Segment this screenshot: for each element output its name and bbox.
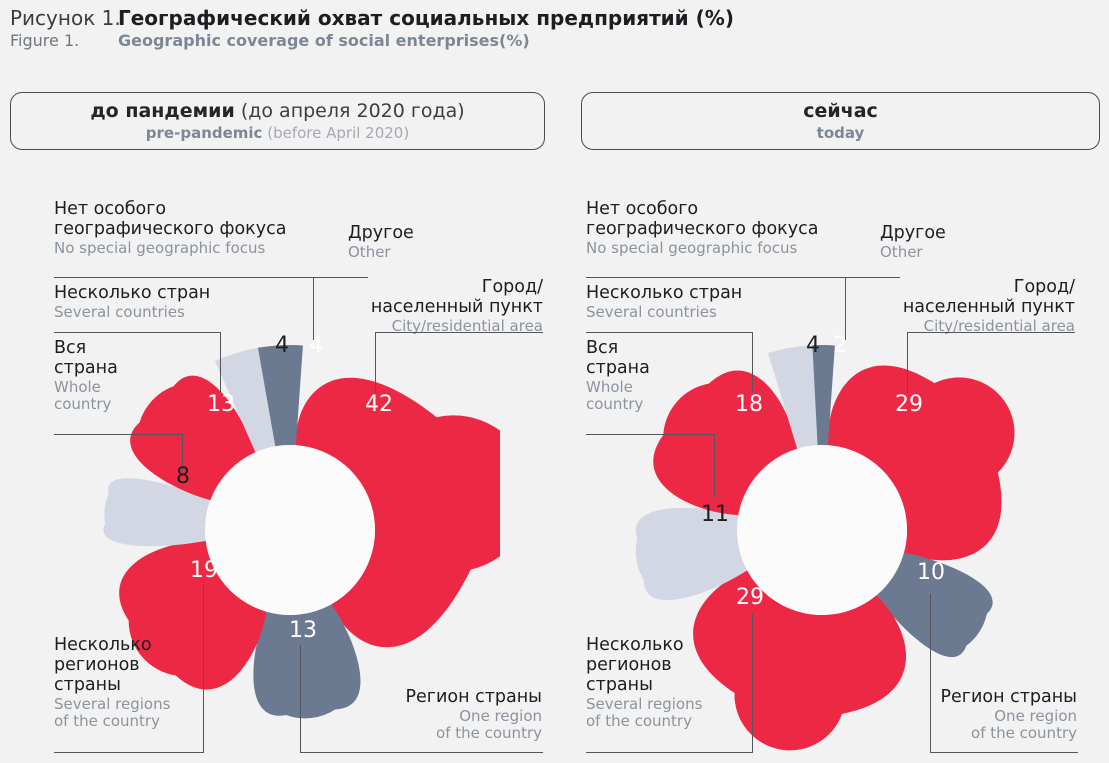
label-no-special-focus-right: Нет особого географического фокуса No sp… [586,200,856,257]
label-whole-country-left: Вся страна Whole country [54,339,174,414]
value-several-countries-right: 18 [735,394,763,416]
value-city-right: 29 [895,394,923,416]
label-en: No special geographic focus [586,240,856,257]
leader-line-no-focus-right-v [845,277,846,340]
label-ru: Несколько регионов страны [586,636,736,696]
label-several-regions-right: Несколько регионов страны Several region… [586,636,736,731]
figure-header: Рисунок 1. Географический охват социальн… [10,6,1100,50]
leader-line-one-region-left-v [300,645,301,753]
label-en: Other [880,244,1000,261]
label-ru: Регион страны [350,688,542,708]
label-one-region-left: Регион страны One region of the country [350,688,542,743]
leader-line-several-countries-right-h [586,332,753,333]
figure-title-ru: Географический охват социальных предприя… [118,6,734,30]
leader-line-no-focus-right-h [586,277,846,278]
value-several-regions-left: 19 [190,560,218,582]
panel-title-ru-right: сейчас [803,100,878,123]
panel-title-ru-rest-left: (до апреля 2020 года) [235,100,465,122]
value-no-focus-right: 4 [806,335,820,357]
leader-line-city-left-v [375,332,376,393]
label-city-right: Город/ населенный пункт City/residential… [885,278,1075,335]
leader-line-several-countries-left-v [220,332,221,392]
leader-line-one-region-right-h [930,752,1078,753]
figure-number-ru: Рисунок 1. [10,6,118,30]
label-several-countries-right: Несколько стран Several countries [586,284,836,321]
label-ru: Вся страна [54,339,174,379]
label-en: Several countries [586,304,836,321]
leader-line-several-regions-right-v [752,614,753,753]
panel-title-en-bold-left: pre-pandemic [146,124,263,142]
label-other-right: Другое Other [880,224,1000,261]
panel-title-box-pre-pandemic: до пандемии (до апреля 2020 года) pre-pa… [10,92,545,150]
label-ru: Несколько регионов страны [54,636,204,696]
label-ru: Несколько стран [586,284,836,304]
leader-line-several-countries-right-v [752,332,753,392]
leader-line-other-left-v2 [313,277,314,340]
leader-line-city-right-h [907,332,1075,333]
value-other-left: 4 [309,335,323,357]
leader-line-several-regions-left-v [203,584,204,753]
leader-line-whole-country-left-h [54,434,183,435]
panel-title-ru-bold-right: сейчас [803,100,878,122]
leader-line-several-countries-left-h [54,332,221,333]
leader-line-whole-country-right-v [714,434,715,498]
label-en: No special geographic focus [54,240,324,257]
label-ru: Несколько стран [54,284,304,304]
value-one-region-left: 13 [289,620,317,642]
leader-line-city-right-v [907,332,908,393]
label-ru: Другое [880,224,1000,244]
label-en: One region of the country [885,708,1077,743]
label-whole-country-right: Вся страна Whole country [586,339,706,414]
label-en: Several regions of the country [586,696,736,731]
value-several-regions-right: 29 [736,587,764,609]
leader-line-one-region-right-v [930,594,931,753]
label-one-region-right: Регион страны One region of the country [885,688,1077,743]
value-one-region-right: 10 [917,562,945,584]
leader-line-city-left-h [375,332,543,333]
value-whole-country-right: 11 [701,504,729,526]
label-en: Several countries [54,304,304,321]
label-several-regions-left: Несколько регионов страны Several region… [54,636,204,731]
leader-line-one-region-left-h [300,752,543,753]
figure-title-en: Geographic coverage of social enterprise… [118,31,530,50]
panel-title-ru-left: до пандемии (до апреля 2020 года) [90,100,464,123]
label-ru: Нет особого географического фокуса [54,200,324,240]
label-ru: Город/ населенный пункт [885,278,1075,318]
value-no-focus-left: 4 [275,335,289,357]
panel-title-en-right: today [817,124,865,143]
value-several-countries-left: 13 [207,394,235,416]
label-en: Whole country [586,379,706,414]
infographic-root: Рисунок 1. Географический охват социальн… [0,0,1109,763]
label-en: Whole country [54,379,174,414]
leader-line-several-regions-right-h [586,752,753,753]
label-ru: Город/ населенный пункт [353,278,543,318]
figure-number-en: Figure 1. [10,31,118,50]
leader-line-several-regions-left-h [54,752,204,753]
label-ru: Нет особого географического фокуса [586,200,856,240]
leader-line-whole-country-right-h [586,434,715,435]
label-ru: Другое [348,224,468,244]
label-ru: Вся страна [586,339,706,379]
panel-title-box-today: сейчас today [581,92,1100,150]
label-ru: Регион страны [885,688,1077,708]
panel-title-en-bold-right: today [817,124,865,142]
label-city-left: Город/ населенный пункт City/residential… [353,278,543,335]
label-several-countries-left: Несколько стран Several countries [54,284,304,321]
panel-title-ru-bold-left: до пандемии [90,100,234,122]
panel-title-en-rest-left: (before April 2020) [262,124,409,142]
figure-title-ru-line: Рисунок 1. Географический охват социальн… [10,6,1100,30]
label-en: Other [348,244,468,261]
donut-hub [205,445,375,615]
panel-title-en-left: pre-pandemic (before April 2020) [146,124,409,143]
label-en: One region of the country [350,708,542,743]
value-city-left: 42 [365,394,393,416]
label-no-special-focus-left: Нет особого географического фокуса No sp… [54,200,324,257]
label-en: Several regions of the country [54,696,204,731]
label-other-left: Другое Other [348,224,468,261]
figure-title-en-line: Figure 1. Geographic coverage of social … [10,31,1100,50]
value-other-right: 2 [833,335,847,357]
value-whole-country-left: 8 [176,466,190,488]
leader-line-no-focus-left-h [54,277,314,278]
